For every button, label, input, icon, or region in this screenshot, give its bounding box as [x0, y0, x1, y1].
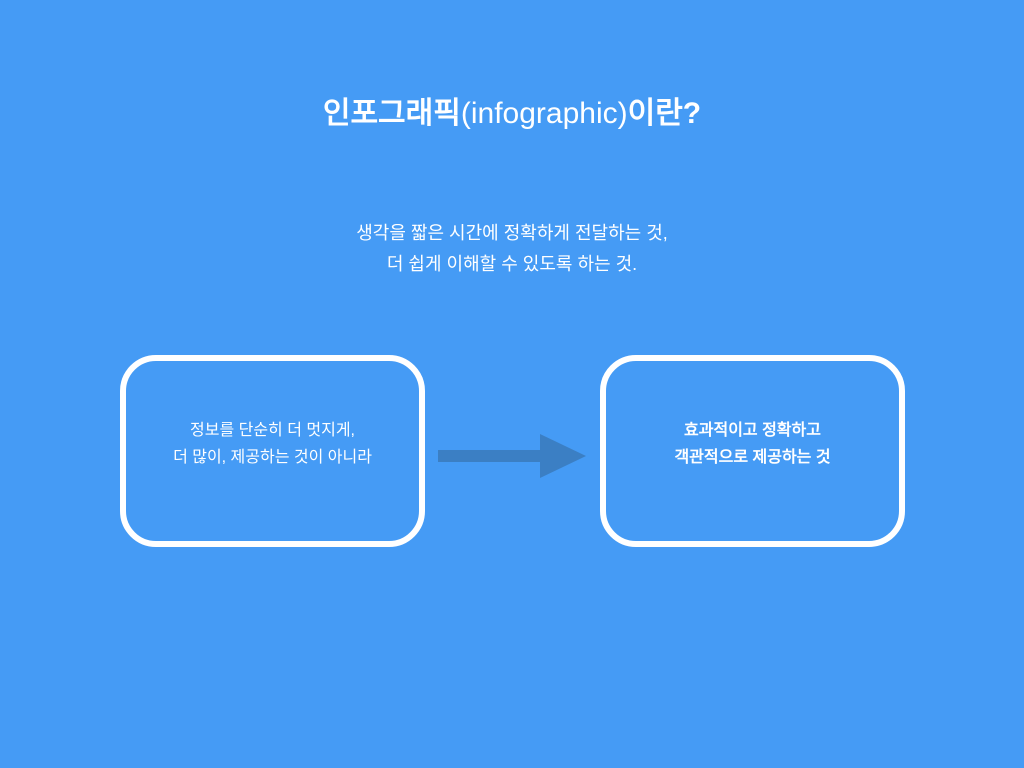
- concept-box-before-line-2: 더 많이, 제공하는 것이 아니라: [173, 444, 372, 471]
- right-arrow-shape: [436, 432, 588, 480]
- subtitle: 생각을 짧은 시간에 정확하게 전달하는 것, 더 쉽게 이해할 수 있도록 하…: [0, 218, 1024, 280]
- concept-box-after-line-1: 효과적이고 정확하고: [674, 417, 830, 444]
- concept-box-before-text: 정보를 단순히 더 멋지게, 더 많이, 제공하는 것이 아니라: [173, 417, 372, 471]
- subtitle-line-2: 더 쉽게 이해할 수 있도록 하는 것.: [0, 249, 1024, 280]
- page-title-english-paren: (infographic): [461, 97, 628, 130]
- concept-box-after: 효과적이고 정확하고 객관적으로 제공하는 것: [600, 355, 905, 547]
- page-title-korean-tail: 이란?: [628, 97, 702, 130]
- subtitle-line-1: 생각을 짧은 시간에 정확하게 전달하는 것,: [0, 218, 1024, 249]
- page-title: 인포그래픽(infographic)이란?: [0, 94, 1024, 134]
- concept-box-before: 정보를 단순히 더 멋지게, 더 많이, 제공하는 것이 아니라: [120, 355, 425, 547]
- concept-box-before-line-1: 정보를 단순히 더 멋지게,: [173, 417, 372, 444]
- page-title-korean-lead: 인포그래픽: [323, 97, 461, 130]
- right-arrow-icon: [436, 432, 588, 480]
- concept-box-after-line-2: 객관적으로 제공하는 것: [674, 444, 830, 471]
- slide-canvas: 인포그래픽(infographic)이란? 생각을 짧은 시간에 정확하게 전달…: [0, 0, 1024, 768]
- concept-box-after-text: 효과적이고 정확하고 객관적으로 제공하는 것: [674, 417, 830, 471]
